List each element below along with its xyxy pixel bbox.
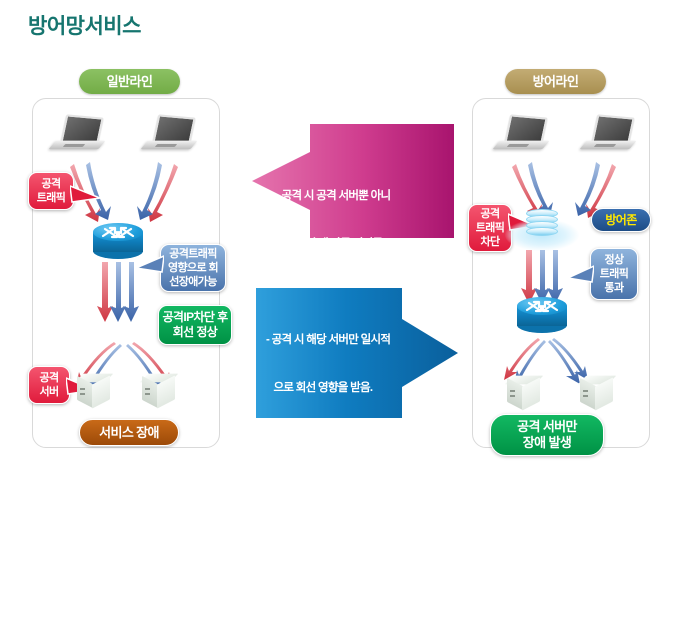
server-icon bbox=[75, 372, 115, 410]
server-led bbox=[80, 393, 85, 395]
line-fault-callout-tail bbox=[134, 252, 164, 274]
server-led bbox=[510, 390, 515, 392]
laptop-icon bbox=[583, 116, 637, 156]
service-failure-label: 서비스 장애 bbox=[99, 425, 159, 441]
laptop-trackpad bbox=[594, 144, 617, 147]
normal-traffic-callout-tail bbox=[566, 262, 594, 284]
service-failure-pill: 서비스 장애 bbox=[79, 419, 179, 446]
server-led bbox=[145, 388, 150, 390]
server-led bbox=[510, 395, 515, 397]
router-arrow-glyphs bbox=[93, 223, 143, 243]
normal-line-header-pill: 일반라인 bbox=[79, 69, 180, 94]
attack-server-only-failure-label: 공격 서버만 장애 발생 bbox=[517, 419, 577, 451]
attack-server-only-failure-pill: 공격 서버만 장애 발생 bbox=[490, 414, 604, 456]
laptop-icon bbox=[496, 116, 550, 156]
defense-zone-pill-label: 방어존 bbox=[605, 213, 636, 228]
server-led bbox=[583, 390, 588, 392]
normal-traffic-callout-label: 정상 트래픽 통과 bbox=[600, 253, 629, 295]
magenta-arrow-line: - 공격 시 공격 서버뿐 아니 bbox=[276, 188, 452, 204]
line-fault-callout-label: 공격트래픽 영향으로 회 선장애가능 bbox=[168, 247, 218, 289]
defense-zone-disc bbox=[526, 227, 558, 236]
server-led bbox=[145, 393, 150, 395]
server-icon bbox=[140, 372, 180, 410]
diagram-canvas: 방어망서비스 일반라인 방어라인 공격 트래픽 bbox=[0, 0, 680, 490]
ip-block-status-label: 공격IP차단 후 회선 정상 bbox=[162, 310, 227, 340]
server-led bbox=[583, 395, 588, 397]
router-icon bbox=[517, 297, 567, 337]
defense-zone-icon bbox=[505, 205, 579, 253]
laptop-icon bbox=[144, 116, 198, 156]
defense-line-header-pill: 방어라인 bbox=[505, 69, 606, 94]
blue-arrow-text: - 공격 시 해당 서버만 일시적 으로 회선 영향을 받음. - 방어 가능한… bbox=[266, 300, 446, 620]
line-fault-callout: 공격트래픽 영향으로 회 선장애가능 bbox=[160, 244, 226, 292]
laptop-trackpad bbox=[63, 144, 86, 147]
defense-zone-stack bbox=[526, 209, 558, 239]
router-arrow-glyphs bbox=[517, 297, 567, 317]
blue-arrow-line: - 방어 가능한 트래픽 내에서는 bbox=[266, 428, 446, 444]
attack-server-callout: 공격 서버 bbox=[28, 366, 70, 404]
attack-traffic-callout-tail bbox=[70, 184, 102, 206]
server-led bbox=[80, 388, 85, 390]
laptop-trackpad bbox=[155, 144, 178, 147]
attack-server-callout-label: 공격 서버 bbox=[39, 371, 58, 399]
magenta-arrow-line: 라 센터 내 다른 서버들도 bbox=[276, 236, 452, 252]
blue-arrow-line: 으로 회선 영향을 받음. bbox=[266, 380, 446, 396]
page-title: 방어망서비스 bbox=[28, 10, 141, 40]
attack-traffic-callout: 공격 트래픽 bbox=[28, 172, 74, 210]
attack-traffic-callout-label: 공격 트래픽 bbox=[37, 177, 66, 205]
ip-block-status-box: 공격IP차단 후 회선 정상 bbox=[158, 305, 232, 345]
normal-traffic-callout: 정상 트래픽 통과 bbox=[590, 248, 638, 300]
blue-arrow-line: - 국제망 장애 발생 미비 bbox=[266, 572, 446, 588]
server-icon bbox=[505, 374, 545, 412]
blue-arrow-line: 서비스 가능 bbox=[266, 524, 446, 540]
attack-traffic-blocked-label: 공격 트래픽 차단 bbox=[476, 207, 505, 249]
laptop-trackpad bbox=[507, 144, 530, 147]
server-icon bbox=[578, 374, 618, 412]
laptop-icon bbox=[52, 116, 106, 156]
defense-zone-pill: 방어존 bbox=[591, 208, 651, 232]
blue-arrow-line: - 공격 시 해당 서버만 일시적 bbox=[266, 332, 446, 348]
